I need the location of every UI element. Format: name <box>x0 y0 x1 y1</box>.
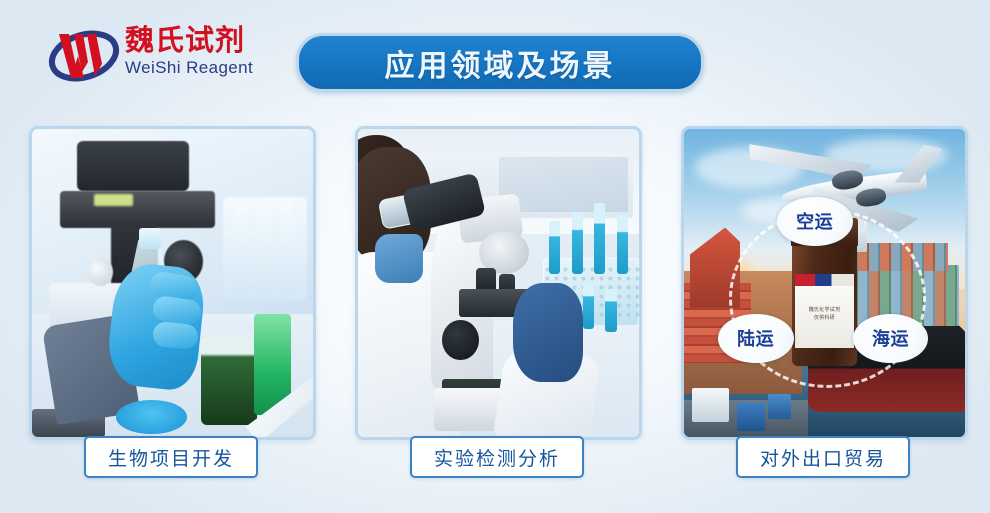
caption-label-1: 生物项目开发 <box>108 444 234 471</box>
card-captions: 生物项目开发 实验检测分析 对外出口贸易 <box>0 0 990 513</box>
caption-label-3: 对外出口贸易 <box>760 444 886 471</box>
caption-lab-testing-analysis: 实验检测分析 <box>410 436 584 478</box>
caption-bio-project-development: 生物项目开发 <box>84 436 258 478</box>
caption-export-trade: 对外出口贸易 <box>736 436 910 478</box>
slide-canvas: 魏氏试剂 WeiShi Reagent 应用领域及场景 <box>0 0 990 513</box>
caption-label-2: 实验检测分析 <box>434 444 560 471</box>
